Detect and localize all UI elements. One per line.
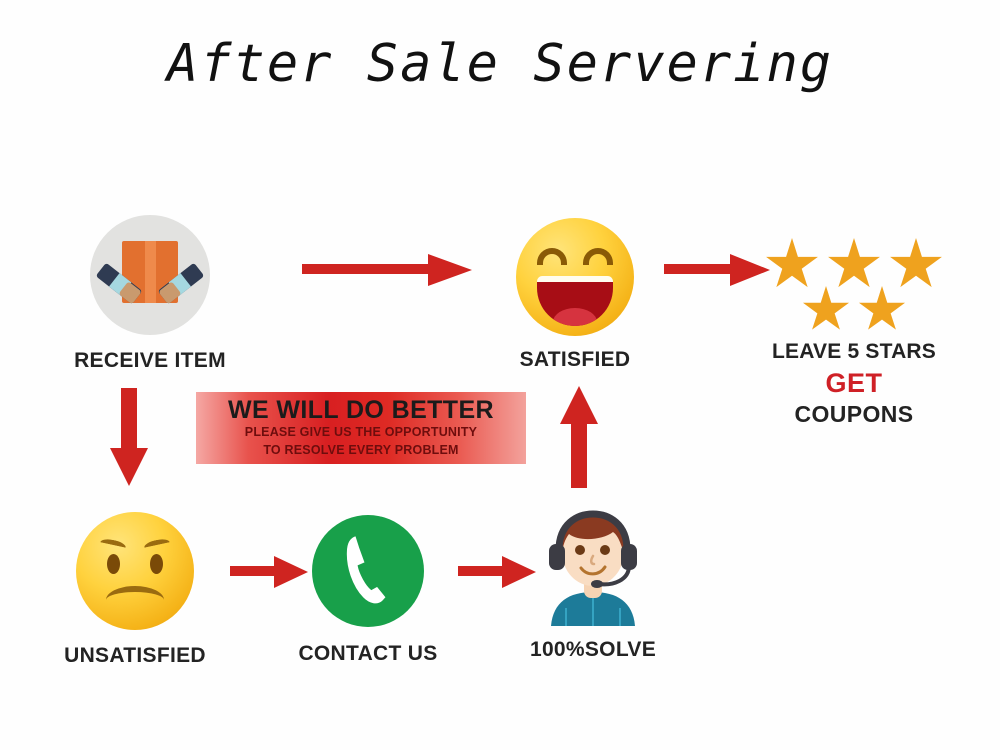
we-will-do-better-banner: WE WILL DO BETTER PLEASE GIVE US THE OPP… — [196, 392, 526, 464]
handset-glyph — [321, 524, 415, 618]
mouth-open — [537, 276, 613, 326]
headset-agent-icon — [533, 508, 653, 626]
phone-handset-icon — [312, 515, 424, 627]
brow-right — [143, 537, 171, 552]
arrow-contact-to-solve — [456, 554, 540, 590]
contact-us-label: CONTACT US — [253, 642, 483, 666]
banner-title: WE WILL DO BETTER — [228, 397, 494, 423]
node-satisfied: SATISFIED — [465, 218, 685, 372]
tongue — [553, 308, 597, 326]
banner-subtitle-line-1: PLEASE GIVE US THE OPPORTUNITY — [245, 423, 477, 441]
node-receive-item: RECEIVE ITEM — [40, 215, 260, 373]
star-icon — [889, 238, 943, 292]
node-contact-us: CONTACT US — [253, 515, 483, 666]
eye-left — [537, 248, 567, 265]
arrow-solve-to-satisfied — [558, 382, 602, 492]
infographic-canvas: After Sale Servering RECEIVE ITEM — [0, 0, 1000, 750]
node-rating: LEAVE 5 STARS GET COUPONS — [748, 238, 960, 428]
eye-right — [150, 554, 163, 574]
eye-left — [107, 554, 120, 574]
page-title: After Sale Servering — [0, 34, 1000, 94]
solve-label: 100%SOLVE — [478, 638, 708, 662]
banner-subtitle-line-2: TO RESOLVE EVERY PROBLEM — [263, 441, 458, 459]
node-unsatisfied: UNSATISFIED — [25, 512, 245, 668]
rating-caption: LEAVE 5 STARS GET COUPONS — [748, 340, 960, 428]
star-rating-group — [754, 238, 954, 334]
star-icon — [858, 286, 906, 334]
coupons-label: COUPONS — [748, 401, 960, 428]
leave-stars-label: LEAVE 5 STARS — [748, 340, 960, 364]
mouth-frown — [106, 586, 164, 614]
star-icon — [827, 238, 881, 292]
arrow-unsatisfied-to-contact — [228, 554, 312, 590]
get-label: GET — [748, 368, 960, 399]
arrow-receive-to-satisfied — [300, 250, 480, 290]
agent-glyph — [533, 508, 653, 626]
sad-face-icon — [76, 512, 194, 630]
star-row-bottom — [754, 286, 954, 334]
unsatisfied-label: UNSATISFIED — [25, 644, 245, 668]
satisfied-label: SATISFIED — [465, 348, 685, 372]
package-in-hands-icon — [90, 215, 210, 335]
laughing-face-icon — [516, 218, 634, 336]
brow-left — [99, 537, 127, 552]
star-icon — [802, 286, 850, 334]
arrow-satisfied-to-rating — [662, 252, 774, 288]
package-stripe — [145, 241, 156, 303]
arrow-receive-to-unsatisfied — [108, 386, 152, 490]
receive-item-label: RECEIVE ITEM — [40, 349, 260, 373]
eye-right — [583, 248, 613, 265]
star-row-top — [754, 238, 954, 292]
